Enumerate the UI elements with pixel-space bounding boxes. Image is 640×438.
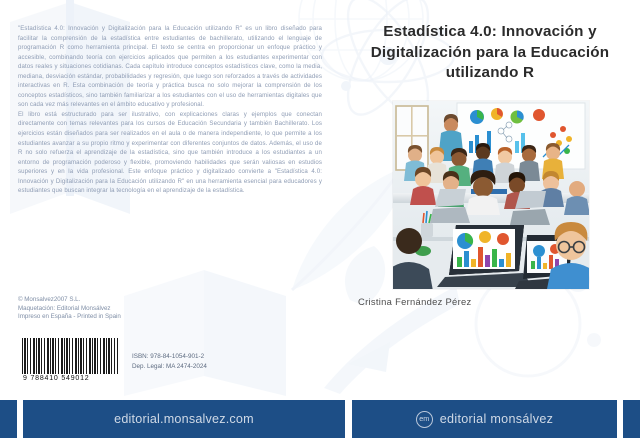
printed-in-line: Impreso en España - Printed in Spain [18, 313, 121, 322]
back-cover-blurb: "Estadística 4.0: Innovación y Digitaliz… [18, 24, 322, 196]
layout-credit-line: Maquetación: Editorial Monsálvez [18, 305, 121, 314]
blurb-paragraph-2: El libro está estructurado para ser ilus… [18, 110, 322, 196]
classroom-illustration [393, 101, 589, 289]
em-monogram-icon: em [416, 411, 433, 428]
isbn-line: ISBN: 978-84-1054-901-2 [132, 352, 207, 362]
footer-edge-left [0, 400, 17, 438]
publisher-name: editorial monsálvez [440, 412, 554, 426]
publisher-footer-bar: editorial.monsalvez.com em editorial mon… [0, 400, 640, 438]
barcode-digits: 9 788410 549012 [22, 375, 118, 382]
front-cover-panel: Estadística 4.0: Innovación y Digitaliza… [340, 0, 640, 396]
blurb-paragraph-1: "Estadística 4.0: Innovación y Digitaliz… [18, 24, 322, 110]
footer-gap-2 [345, 400, 352, 438]
footer-website-panel[interactable]: editorial.monsalvez.com [23, 400, 345, 438]
book-cover-spread: "Estadística 4.0: Innovación y Digitaliz… [0, 0, 640, 438]
footer-brand-panel: em editorial monsálvez [352, 400, 617, 438]
book-title: Estadística 4.0: Innovación y Digitaliza… [348, 22, 632, 84]
copyright-line: © Monsalvez2007 S.L. [18, 296, 121, 305]
brand-lockup: em editorial monsálvez [416, 411, 554, 428]
footer-edge-right [623, 400, 640, 438]
barcode-and-isbn-block: 9 788410 549012 ISBN: 978-84-1054-901-2 … [22, 338, 207, 382]
cover-photograph [393, 101, 589, 289]
back-cover-panel: "Estadística 4.0: Innovación y Digitaliz… [0, 0, 340, 396]
isbn-block: ISBN: 978-84-1054-901-2 Dep. Legal: MA 2… [132, 352, 207, 382]
imprint-block: © Monsalvez2007 S.L. Maquetación: Editor… [18, 296, 121, 322]
legal-deposit-line: Dep. Legal: MA 2474-2024 [132, 362, 207, 372]
ean13-barcode: 9 788410 549012 [22, 338, 118, 382]
author-name: Cristina Fernández Pérez [358, 296, 622, 307]
website-url[interactable]: editorial.monsalvez.com [114, 412, 254, 426]
barcode-bars [22, 338, 118, 374]
